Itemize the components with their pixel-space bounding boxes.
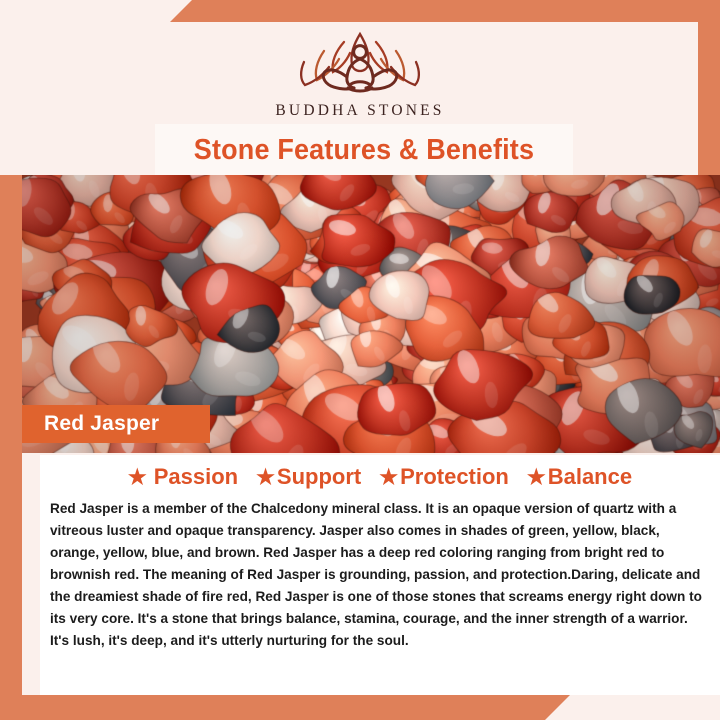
stone-name-label: Red Jasper	[44, 412, 159, 436]
benefit-label: Support	[277, 464, 361, 490]
benefits-row: ★Passion★Support★Protection★Balance	[40, 455, 720, 490]
stone-description: Red Jasper is a member of the Chalcedony…	[50, 498, 702, 652]
benefit-item-passion: ★Passion	[128, 464, 238, 490]
page-title: Stone Features & Benefits	[194, 134, 534, 167]
brand-name: BUDDHA STONES	[0, 102, 720, 120]
star-icon: ★	[379, 467, 398, 488]
brand-logo: BUDDHA STONES	[0, 24, 720, 120]
benefit-item-support: ★Support	[256, 464, 361, 490]
benefit-label: Protection	[400, 464, 509, 490]
benefit-item-protection: ★Protection	[379, 464, 509, 490]
star-icon: ★	[256, 467, 275, 488]
star-icon: ★	[128, 467, 147, 488]
decorative-band-left	[0, 175, 22, 695]
infographic-page: BUDDHA STONES Stone Features & Benefits …	[0, 0, 720, 720]
benefit-label: Passion	[154, 464, 238, 490]
stone-name-ribbon: Red Jasper	[22, 405, 210, 443]
content-card: ★Passion★Support★Protection★Balance Red …	[40, 455, 720, 695]
benefit-label: Balance	[548, 464, 632, 490]
benefit-item-balance: ★Balance	[527, 464, 632, 490]
title-banner: Stone Features & Benefits	[155, 124, 573, 176]
lotus-meditation-figure-icon	[284, 24, 436, 100]
decorative-band-bottom	[0, 695, 570, 720]
star-icon: ★	[527, 467, 546, 488]
decorative-band-top	[170, 0, 720, 22]
